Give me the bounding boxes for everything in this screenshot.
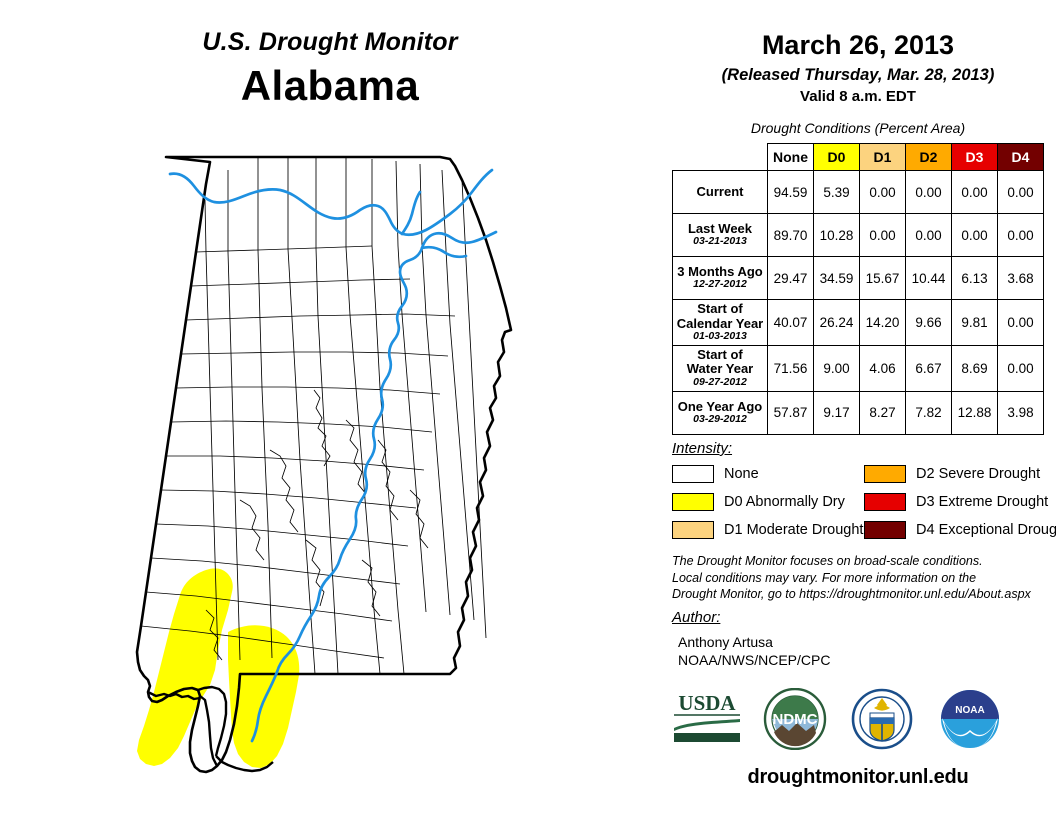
table-row: Start ofCalendar Year01-03-201340.0726.2… [673, 300, 1044, 346]
table-caption: Drought Conditions (Percent Area) [660, 120, 1056, 136]
logo-row: USDA NDMC [660, 688, 1056, 758]
intensity-heading: Intensity: [672, 440, 732, 457]
row-label-1: Last Week03-21-2013 [673, 214, 768, 257]
cell-0-d3: 0.00 [952, 171, 998, 214]
rivers [170, 170, 496, 741]
cell-3-d0: 26.24 [814, 300, 860, 346]
table-row: 3 Months Ago12-27-201229.4734.5915.6710.… [673, 257, 1044, 300]
cell-4-d4: 0.00 [998, 345, 1044, 391]
cell-2-d4: 3.68 [998, 257, 1044, 300]
row-date-1: 03-21-2013 [676, 236, 764, 248]
legend-swatch-d3 [864, 493, 906, 511]
cell-5-d1: 8.27 [860, 391, 906, 434]
column-header-none: None [768, 144, 814, 171]
cell-1-d2: 0.00 [906, 214, 952, 257]
row-date-5: 03-29-2012 [676, 414, 764, 426]
cell-5-d2: 7.82 [906, 391, 952, 434]
table-corner-blank [673, 144, 768, 171]
svg-text:NOAA: NOAA [955, 705, 984, 716]
cell-1-none: 89.70 [768, 214, 814, 257]
legend-label-d4: D4 Exceptional Drought [916, 522, 1056, 538]
table-header: None D0 D1 D2 D3 D4 [673, 144, 1044, 171]
cell-2-d3: 6.13 [952, 257, 998, 300]
author-organization: NOAA/NWS/NCEP/CPC [678, 652, 830, 668]
cell-1-d0: 10.28 [814, 214, 860, 257]
row-label-3: Start ofCalendar Year01-03-2013 [673, 300, 768, 346]
cell-1-d1: 0.00 [860, 214, 906, 257]
valid-time: Valid 8 a.m. EDT [660, 88, 1056, 105]
cell-4-d1: 4.06 [860, 345, 906, 391]
cell-4-d3: 8.69 [952, 345, 998, 391]
drought-conditions-table: None D0 D1 D2 D3 D4 Current94.595.390.00… [672, 143, 1044, 435]
cell-2-none: 29.47 [768, 257, 814, 300]
legend-item-d4: D4 Exceptional Drought [864, 520, 1056, 540]
table-row: Current94.595.390.000.000.000.00 [673, 171, 1044, 214]
table-row: Last Week03-21-201389.7010.280.000.000.0… [673, 214, 1044, 257]
cell-4-d0: 9.00 [814, 345, 860, 391]
cell-0-none: 94.59 [768, 171, 814, 214]
cell-0-d0: 5.39 [814, 171, 860, 214]
state-title: Alabama [0, 62, 660, 110]
cell-2-d1: 15.67 [860, 257, 906, 300]
cell-3-d2: 9.66 [906, 300, 952, 346]
row-date-3: 01-03-2013 [676, 331, 764, 343]
release-date: (Released Thursday, Mar. 28, 2013) [660, 66, 1056, 85]
legend-label-d2: D2 Severe Drought [916, 466, 1040, 482]
cell-3-d4: 0.00 [998, 300, 1044, 346]
usdoc-logo [848, 688, 916, 750]
legend-swatch-none [672, 465, 714, 483]
legend-item-d2: D2 Severe Drought [864, 464, 1040, 484]
legend-label-d1: D1 Moderate Drought [724, 522, 863, 538]
cell-5-none: 57.87 [768, 391, 814, 434]
table-header-row: None D0 D1 D2 D3 D4 [673, 144, 1044, 171]
noaa-logo: NOAA [938, 688, 1002, 750]
table-row: Start ofWater Year09-27-201271.569.004.0… [673, 345, 1044, 391]
cell-2-d2: 10.44 [906, 257, 952, 300]
legend-swatch-d2 [864, 465, 906, 483]
cell-5-d0: 9.17 [814, 391, 860, 434]
legend-label-none: None [724, 466, 759, 482]
alabama-drought-map[interactable] [110, 140, 560, 800]
legend-item-d1: D1 Moderate Drought [672, 520, 863, 540]
drought-area-d0 [137, 568, 299, 768]
info-panel: March 26, 2013 (Released Thursday, Mar. … [660, 0, 1056, 816]
cell-1-d3: 0.00 [952, 214, 998, 257]
row-date-4: 09-27-2012 [676, 377, 764, 389]
column-header-d4: D4 [998, 144, 1044, 171]
cell-3-none: 40.07 [768, 300, 814, 346]
legend-swatch-d1 [672, 521, 714, 539]
disclaimer-note: The Drought Monitor focuses on broad-sca… [672, 553, 1056, 603]
cell-5-d3: 12.88 [952, 391, 998, 434]
column-header-d1: D1 [860, 144, 906, 171]
cell-1-d4: 0.00 [998, 214, 1044, 257]
cell-4-d2: 6.67 [906, 345, 952, 391]
cell-0-d1: 0.00 [860, 171, 906, 214]
legend-swatch-d4 [864, 521, 906, 539]
ndmc-logo: NDMC [760, 688, 830, 750]
cell-5-d4: 3.98 [998, 391, 1044, 434]
cell-0-d2: 0.00 [906, 171, 952, 214]
row-label-5: One Year Ago03-29-2012 [673, 391, 768, 434]
svg-text:NDMC: NDMC [773, 711, 818, 728]
legend-swatch-d0 [672, 493, 714, 511]
report-date: March 26, 2013 [660, 30, 1056, 61]
legend-item-d0: D0 Abnormally Dry [672, 492, 845, 512]
column-header-d3: D3 [952, 144, 998, 171]
map-panel: U.S. Drought Monitor Alabama [0, 0, 660, 816]
row-label-0: Current [673, 171, 768, 214]
cell-3-d3: 9.81 [952, 300, 998, 346]
legend-item-d3: D3 Extreme Drought [864, 492, 1048, 512]
author-heading: Author: [672, 609, 720, 626]
disclaimer-line: Local conditions may vary. For more info… [672, 570, 1056, 587]
cell-3-d1: 14.20 [860, 300, 906, 346]
table-row: One Year Ago03-29-201257.879.178.277.821… [673, 391, 1044, 434]
disclaimer-line: Drought Monitor, go to https://droughtmo… [672, 586, 1056, 603]
author-name: Anthony Artusa [678, 634, 773, 650]
cell-2-d0: 34.59 [814, 257, 860, 300]
row-date-2: 12-27-2012 [676, 279, 764, 291]
column-header-d2: D2 [906, 144, 952, 171]
legend-label-d0: D0 Abnormally Dry [724, 494, 845, 510]
disclaimer-line: The Drought Monitor focuses on broad-sca… [672, 553, 1056, 570]
cell-0-d4: 0.00 [998, 171, 1044, 214]
column-header-d0: D0 [814, 144, 860, 171]
row-label-4: Start ofWater Year09-27-2012 [673, 345, 768, 391]
program-title: U.S. Drought Monitor [0, 28, 660, 57]
usda-logo: USDA [668, 688, 746, 744]
map-svg [110, 140, 560, 800]
legend-label-d3: D3 Extreme Drought [916, 494, 1048, 510]
cell-4-none: 71.56 [768, 345, 814, 391]
website-url[interactable]: droughtmonitor.unl.edu [660, 766, 1056, 789]
row-label-2: 3 Months Ago12-27-2012 [673, 257, 768, 300]
svg-text:USDA: USDA [678, 691, 736, 715]
table-body: Current94.595.390.000.000.000.00Last Wee… [673, 171, 1044, 435]
legend-item-none: None [672, 464, 759, 484]
